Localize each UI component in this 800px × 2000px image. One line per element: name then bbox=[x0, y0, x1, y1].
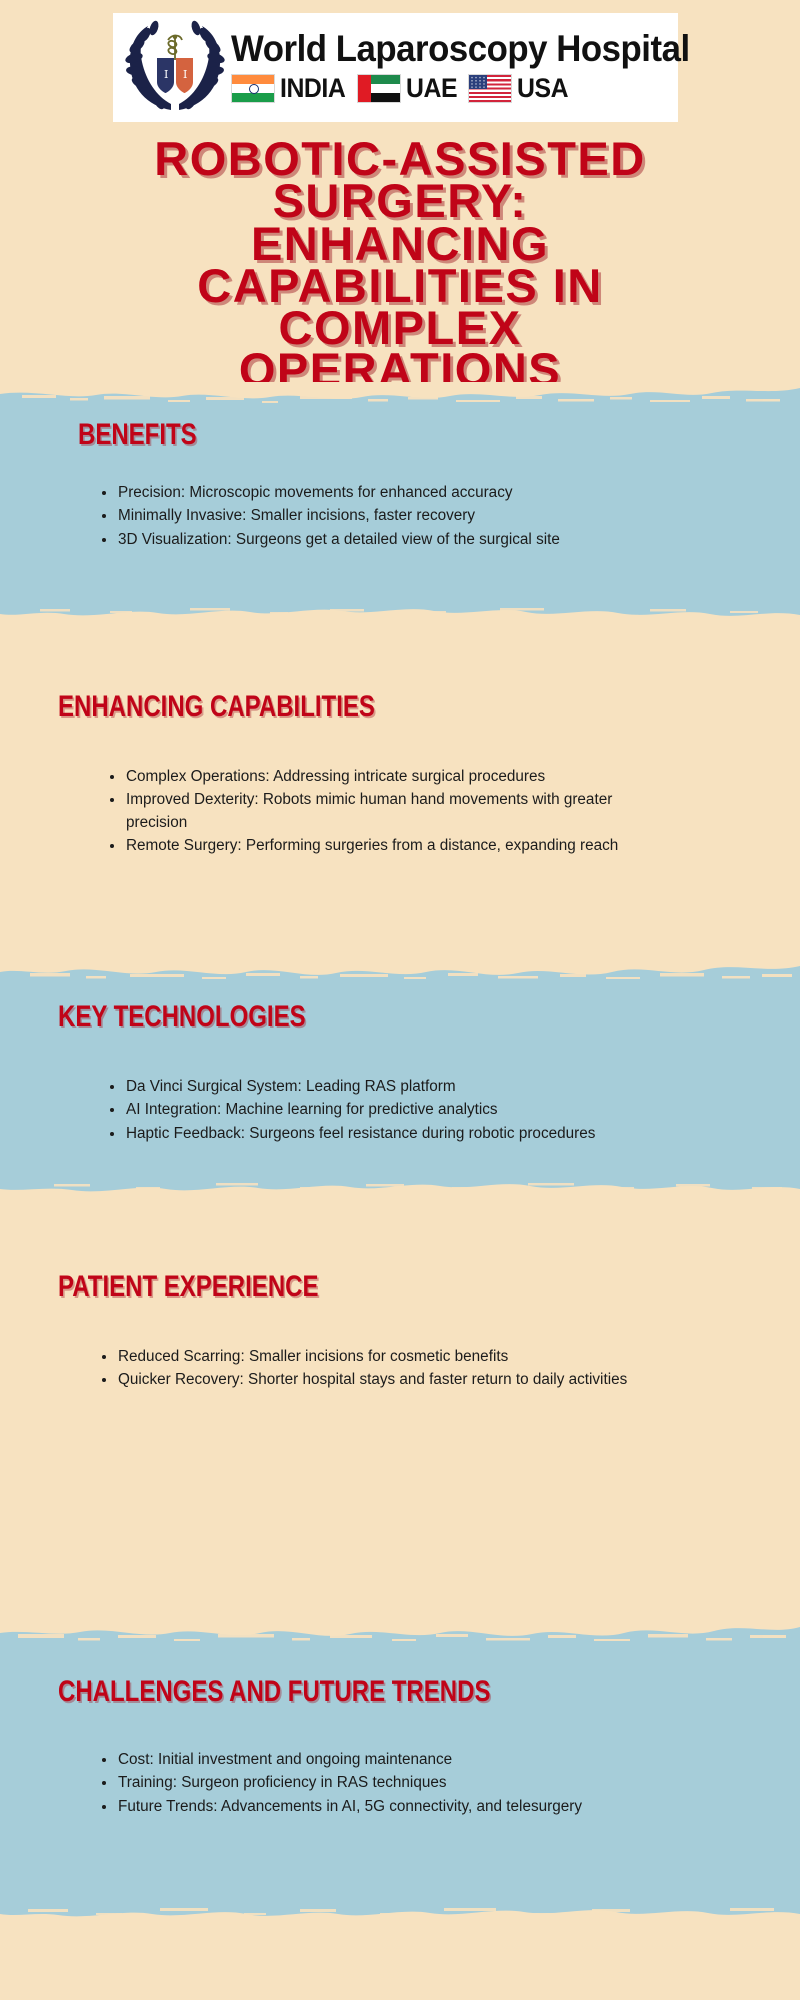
uae-label: UAE bbox=[406, 73, 457, 104]
list-item: Da Vinci Surgical System: Leading RAS pl… bbox=[108, 1076, 800, 1098]
bullet-list-challenges-future-trends: Cost: Initial investment and ongoing mai… bbox=[70, 1749, 800, 1818]
list-item: Reduced Scarring: Smaller incisions for … bbox=[100, 1346, 660, 1368]
section-key-technologies: KEY TECHNOLOGIES Da Vinci Surgical Syste… bbox=[0, 1000, 800, 1146]
logo-text-block: World Laparoscopy Hospital INDIA UAE bbox=[229, 31, 719, 103]
country-uae: UAE bbox=[357, 73, 462, 104]
bullet-list-key-technologies: Da Vinci Surgical System: Leading RAS pl… bbox=[78, 1076, 800, 1145]
list-item: Minimally Invasive: Smaller incisions, f… bbox=[100, 505, 800, 527]
bullet-list-benefits: Precision: Microscopic movements for enh… bbox=[70, 482, 800, 551]
usa-label: USA bbox=[517, 73, 568, 104]
country-usa: USA bbox=[468, 73, 573, 104]
list-item: 3D Visualization: Surgeons get a detaile… bbox=[100, 529, 800, 551]
laurel-wreath-caduceus-emblem: I I bbox=[121, 18, 229, 118]
section-benefits: BENEFITS Precision: Microscopic movement… bbox=[0, 418, 800, 552]
section-heading-patient-experience: PATIENT EXPERIENCE bbox=[58, 1270, 652, 1304]
list-item: Improved Dexterity: Robots mimic human h… bbox=[108, 789, 648, 834]
india-flag-icon bbox=[231, 74, 275, 103]
country-flags-row: INDIA UAE USA bbox=[231, 73, 719, 104]
list-item: AI Integration: Machine learning for pre… bbox=[108, 1099, 800, 1121]
bullet-list-patient-experience: Reduced Scarring: Smaller incisions for … bbox=[70, 1346, 660, 1392]
section-heading-benefits: BENEFITS bbox=[78, 418, 656, 452]
list-item: Quicker Recovery: Shorter hospital stays… bbox=[100, 1369, 660, 1391]
list-item: Cost: Initial investment and ongoing mai… bbox=[100, 1749, 800, 1771]
infographic-page: I I World Laparoscopy Hospital bbox=[0, 0, 800, 2000]
list-item: Future Trends: Advancements in AI, 5G co… bbox=[100, 1796, 800, 1818]
brand-wordmark: World Laparoscopy Hospital bbox=[231, 31, 690, 67]
section-patient-experience: PATIENT EXPERIENCE Reduced Scarring: Sma… bbox=[0, 1270, 800, 1393]
list-item: Precision: Microscopic movements for enh… bbox=[100, 482, 800, 504]
list-item: Complex Operations: Addressing intricate… bbox=[108, 766, 648, 788]
list-item: Remote Surgery: Performing surgeries fro… bbox=[108, 835, 648, 857]
section-enhancing-capabilities: ENHANCING CAPABILITIES Complex Operation… bbox=[0, 690, 800, 858]
hospital-logo-card: I I World Laparoscopy Hospital bbox=[113, 13, 678, 122]
section-challenges-future-trends: CHALLENGES AND FUTURE TRENDS Cost: Initi… bbox=[0, 1675, 800, 1819]
list-item: Training: Surgeon proficiency in RAS tec… bbox=[100, 1772, 800, 1794]
section-heading-enhancing-capabilities: ENHANCING CAPABILITIES bbox=[58, 690, 652, 724]
list-item: Haptic Feedback: Surgeons feel resistanc… bbox=[108, 1123, 800, 1145]
section-heading-challenges-future-trends: CHALLENGES AND FUTURE TRENDS bbox=[58, 1675, 652, 1709]
section-heading-key-technologies: KEY TECHNOLOGIES bbox=[58, 1000, 652, 1034]
india-label: INDIA bbox=[280, 73, 345, 104]
svg-text:I: I bbox=[183, 68, 187, 81]
svg-text:I: I bbox=[164, 68, 168, 81]
uae-flag-icon bbox=[357, 74, 401, 103]
bullet-list-enhancing-capabilities: Complex Operations: Addressing intricate… bbox=[78, 766, 648, 857]
country-india: INDIA bbox=[231, 73, 351, 104]
usa-flag-icon bbox=[468, 74, 512, 103]
page-title: ROBOTIC-ASSISTED SURGERY: ENHANCING CAPA… bbox=[0, 138, 800, 392]
